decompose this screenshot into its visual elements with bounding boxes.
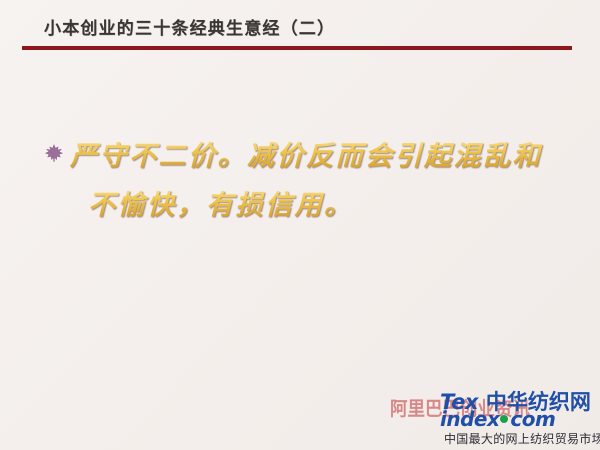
body-line-2: 不愉快，有损信用。: [70, 181, 584, 230]
body-line-1: 严守不二价。减价反而会引起混乱和: [70, 132, 584, 181]
body-text-lines: 严守不二价。减价反而会引起混乱和 不愉快，有损信用。: [70, 132, 584, 230]
presentation-slide: 小本创业的三十条经典生意经（二） 严守不二价。减价反而会引起混乱和 不愉快，有损…: [0, 0, 600, 450]
page-title: 小本创业的三十条经典生意经（二）: [44, 14, 335, 39]
logo-dot-icon: [500, 415, 508, 423]
maple-leaf-bullet-icon: [44, 143, 64, 163]
logo-domain-row: index com: [440, 407, 555, 431]
logo-com-text: com: [510, 407, 555, 431]
textile-site-logo-watermark: Tex 中华纺织网 index com 中国最大的网上纺织贸易市场: [440, 384, 600, 450]
logo-index-text: index: [440, 407, 499, 431]
slide-title-block: 小本创业的三十条经典生意经（二）: [0, 14, 600, 54]
watermark-area: 阿里巴巴创业资讯 Tex 中华纺织网 index com 中国最大的网上纺织贸易…: [388, 384, 600, 450]
slide-body-block: 严守不二价。减价反而会引起混乱和 不愉快，有损信用。: [44, 132, 584, 230]
bulleted-paragraph: 严守不二价。减价反而会引起混乱和 不愉快，有损信用。: [44, 132, 584, 230]
logo-tagline-text: 中国最大的网上纺织贸易市场: [444, 430, 600, 447]
title-divider-rule: [22, 46, 572, 50]
